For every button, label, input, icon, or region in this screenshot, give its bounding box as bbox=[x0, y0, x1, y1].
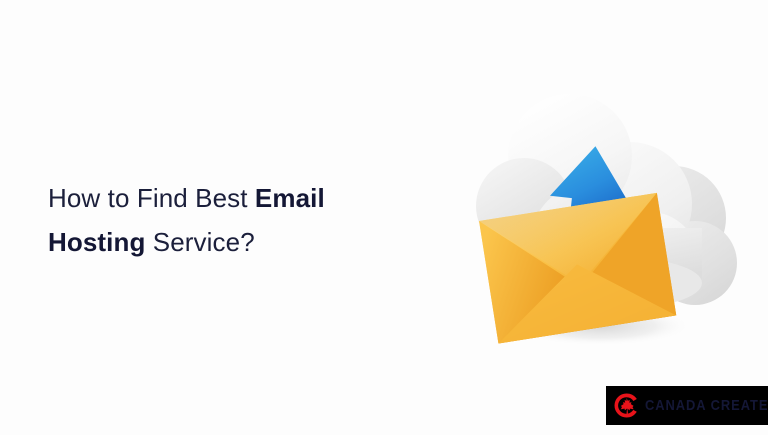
headline-text-bold-2: Hosting bbox=[48, 227, 145, 257]
headline-text-regular-2: Service? bbox=[145, 227, 254, 257]
headline-text-bold-1: Email bbox=[255, 183, 325, 213]
banner-root: How to Find Best Email Hosting Service? bbox=[0, 0, 768, 435]
watermark: CANADA CREATE™ bbox=[606, 386, 768, 425]
headline-text-regular-1: How to Find Best bbox=[48, 183, 255, 213]
headline-line-2: Hosting Service? bbox=[48, 220, 428, 264]
watermark-brand-label: CANADA CREATE bbox=[645, 397, 768, 414]
watermark-brand-text: CANADA CREATE™ bbox=[645, 397, 768, 414]
headline-block: How to Find Best Email Hosting Service? bbox=[48, 176, 428, 264]
headline-line-1: How to Find Best Email bbox=[48, 176, 428, 220]
page-title: How to Find Best Email Hosting Service? bbox=[48, 176, 428, 264]
canada-create-maple-leaf-logo bbox=[613, 392, 640, 419]
cloud-email-upload-illustration bbox=[452, 78, 742, 368]
